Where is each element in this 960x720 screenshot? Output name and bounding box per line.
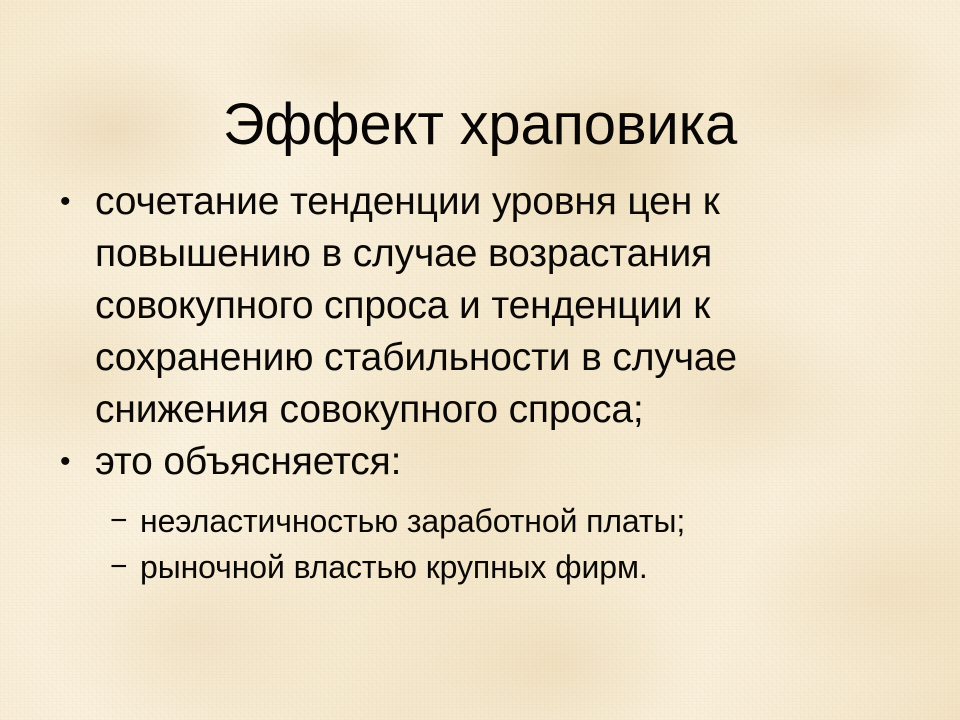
dash-marker-icon: − <box>110 544 134 590</box>
sub-bullet-item-1-text: неэластичностью заработной платы; <box>140 503 685 539</box>
bullet-item-1-line-5: снижения совокупного спроса; <box>95 384 960 436</box>
bullet-marker-icon: • <box>60 176 82 228</box>
presentation-slide: Эффект храповика • сочетание тенденции у… <box>0 0 960 720</box>
bullet-item-1-line-2: повышению в случае возрастания <box>95 228 960 280</box>
bullet-item-2-line-1: это объясняется: <box>95 436 960 488</box>
bullet-item-1: • сочетание тенденции уровня цен к повыш… <box>0 176 960 436</box>
bullet-marker-icon: • <box>60 436 82 488</box>
bullet-item-2: • это объясняется: <box>0 436 960 488</box>
slide-content: Эффект храповика • сочетание тенденции у… <box>0 0 960 720</box>
bullet-item-1-line-3: совокупного спроса и тенденции к <box>95 280 960 332</box>
sub-bullet-item-1: − неэластичностью заработной платы; <box>0 498 960 544</box>
bullet-item-1-line-4: сохранению стабильности в случае <box>95 332 960 384</box>
slide-title: Эффект храповика <box>0 91 960 159</box>
sub-bullet-spacer <box>0 488 960 498</box>
sub-bullet-item-2-text: рыночной властью крупных фирм. <box>140 549 648 585</box>
bullet-item-1-line-1: сочетание тенденции уровня цен к <box>95 176 960 228</box>
slide-body: • сочетание тенденции уровня цен к повыш… <box>0 176 960 590</box>
dash-marker-icon: − <box>110 498 134 544</box>
sub-bullet-item-2: − рыночной властью крупных фирм. <box>0 544 960 590</box>
